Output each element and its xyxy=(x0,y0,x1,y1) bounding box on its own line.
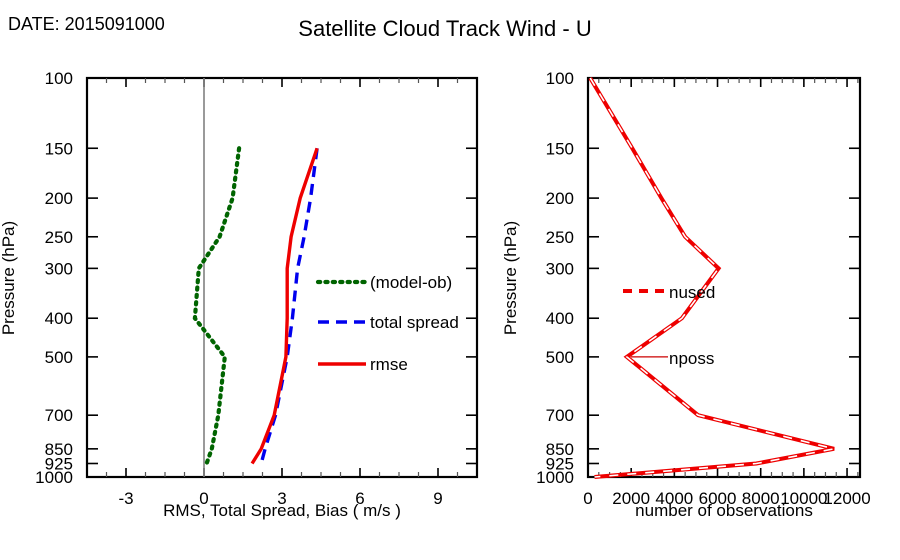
legend-label-2: rmse xyxy=(370,355,408,374)
right-y-axis-title: Pressure (hPa) xyxy=(501,221,520,335)
annotation-label-nused: nused xyxy=(669,283,715,302)
left-y-tick-250: 250 xyxy=(45,228,73,247)
series-total-spread-line xyxy=(261,148,317,463)
right-y-tick-700: 700 xyxy=(546,406,574,425)
series-rmse-line xyxy=(252,148,317,463)
right-y-tick-100: 100 xyxy=(546,69,574,88)
left-x-tick-9: 9 xyxy=(433,489,442,508)
right-y-tick-200: 200 xyxy=(546,189,574,208)
right-x-axis-title: number of observations xyxy=(635,501,813,520)
legend-label-0: (model-ob) xyxy=(370,273,452,292)
annotation-label-nposs: nposs xyxy=(669,349,714,368)
left-y-tick-labels: 1001502002503004005007008509251000 xyxy=(35,69,73,487)
figure-canvas: DATE: 2015091000 Satellite Cloud Track W… xyxy=(0,0,900,560)
right-series-group xyxy=(590,78,834,477)
right-x-tick-12000: 12000 xyxy=(823,489,870,508)
right-y-tick-300: 300 xyxy=(546,259,574,278)
left-legend: (model-ob)total spreadrmse xyxy=(318,273,459,374)
right-plot-axes xyxy=(588,78,860,477)
left-y-tick-500: 500 xyxy=(45,348,73,367)
left-y-axis-title: Pressure (hPa) xyxy=(0,221,18,335)
left-y-tick-400: 400 xyxy=(45,309,73,328)
left-x-axis-title: RMS, Total Spread, Bias ( m/s ) xyxy=(163,501,401,520)
left-y-tick-150: 150 xyxy=(45,139,73,158)
page-title: Satellite Cloud Track Wind - U xyxy=(298,16,591,41)
chart-page: DATE: 2015091000 Satellite Cloud Track W… xyxy=(0,0,900,560)
left-panel: 1001502002503004005007008509251000 -3036… xyxy=(0,69,477,520)
right-y-tick-labels: 1001502002503004005007008509251000 xyxy=(536,69,574,487)
right-y-tick-400: 400 xyxy=(546,309,574,328)
left-series-group xyxy=(195,148,317,463)
series-bias-line xyxy=(195,148,239,463)
right-y-tick-250: 250 xyxy=(546,228,574,247)
legend-label-1: total spread xyxy=(370,313,459,332)
left-y-tick-300: 300 xyxy=(45,259,73,278)
left-y-tick-700: 700 xyxy=(45,406,73,425)
left-y-tick-100: 100 xyxy=(45,69,73,88)
right-y-tick-500: 500 xyxy=(546,348,574,367)
left-y-tick-1000: 1000 xyxy=(35,468,73,487)
right-panel: 1001502002503004005007008509251000 02000… xyxy=(501,69,871,520)
right-y-tick-1000: 1000 xyxy=(536,468,574,487)
left-x-tick--3: -3 xyxy=(118,489,133,508)
left-y-tick-200: 200 xyxy=(45,189,73,208)
right-y-tick-150: 150 xyxy=(546,139,574,158)
right-x-tick-0: 0 xyxy=(583,489,592,508)
plot-frame xyxy=(588,78,860,477)
date-label: DATE: 2015091000 xyxy=(8,14,165,34)
